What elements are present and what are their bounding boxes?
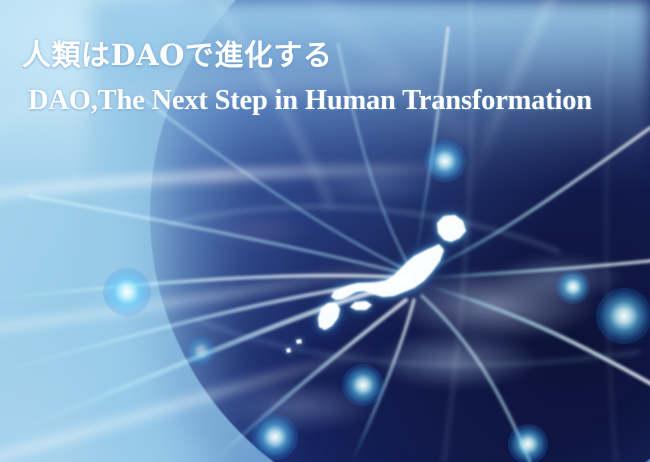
- promo-banner: 人類はDAOで進化する DAO,The Next Step in Human T…: [0, 0, 650, 462]
- japanese-title: 人類はDAOで進化する: [22, 32, 332, 74]
- english-title: DAO,The Next Step in Human Transformatio…: [28, 85, 592, 117]
- headline-block: 人類はDAOで進化する DAO,The Next Step in Human T…: [0, 0, 650, 462]
